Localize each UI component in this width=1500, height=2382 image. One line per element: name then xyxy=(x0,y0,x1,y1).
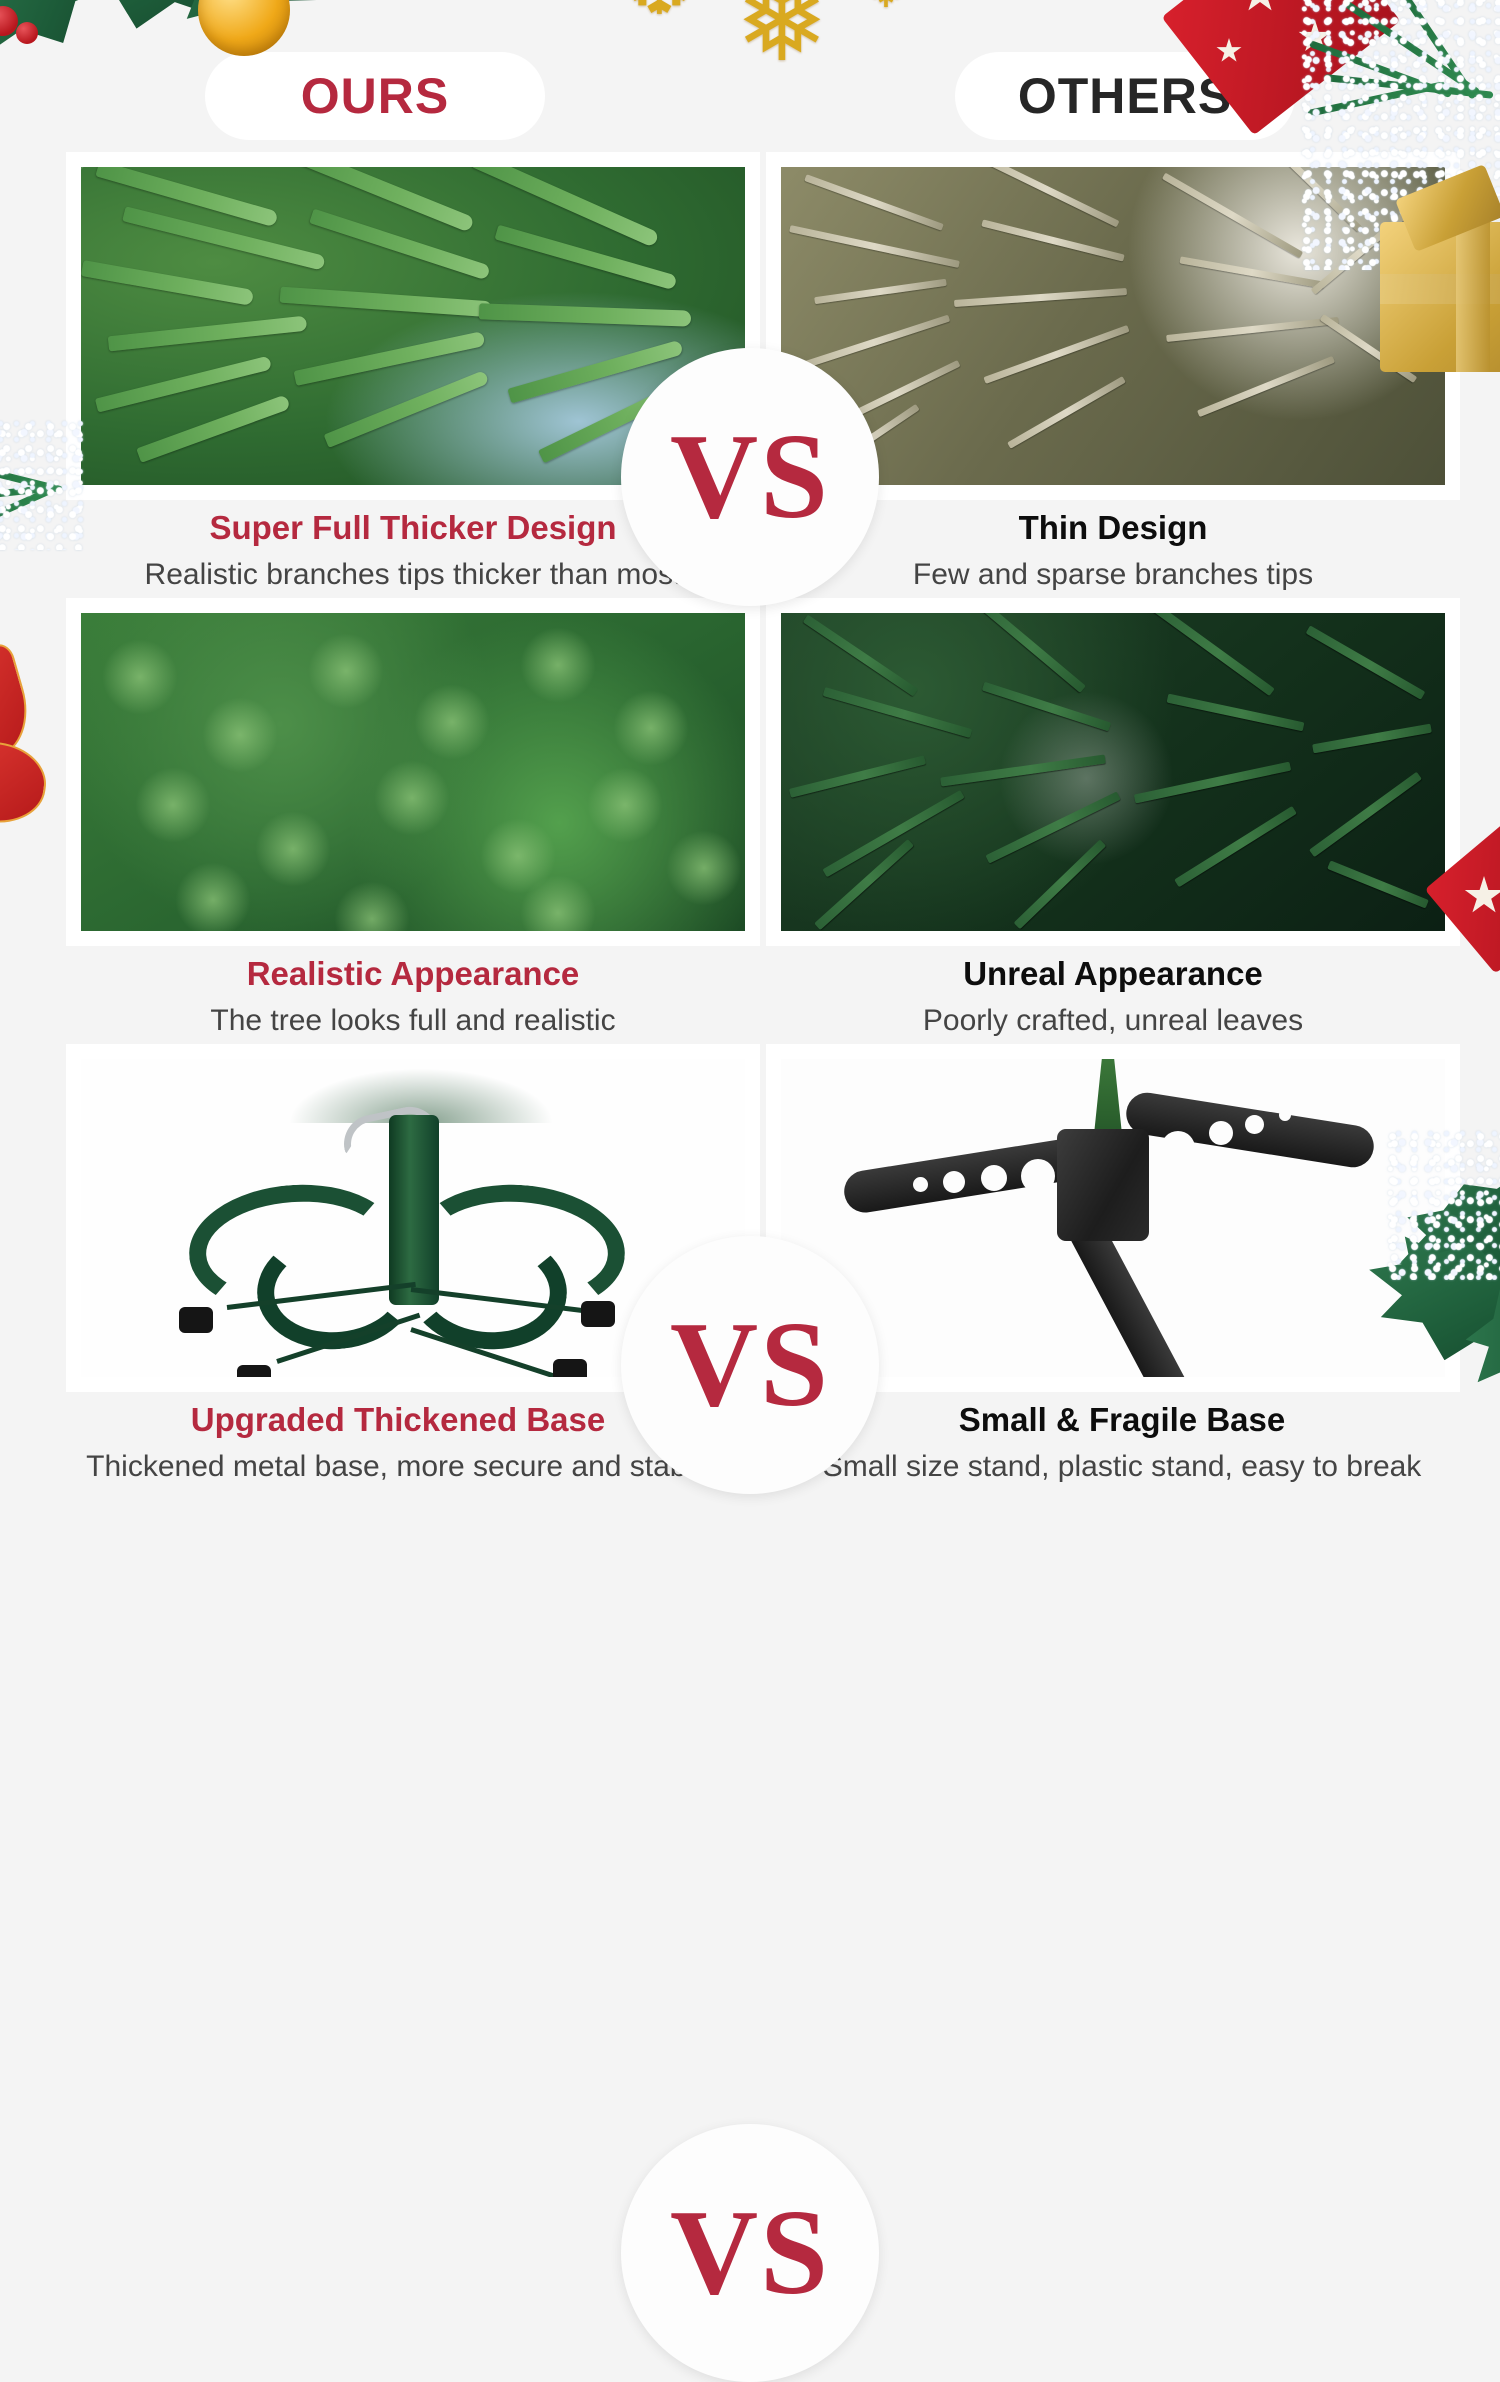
comparison-row-2: VS Realistic Appearance The tree looks f… xyxy=(0,598,1500,1044)
full-realistic-green-tree-photo xyxy=(81,613,745,931)
gold-snowflake-tertiary: ❄ xyxy=(860,0,912,18)
others-caption-2: Unreal Appearance Poorly crafted, unreal… xyxy=(763,954,1463,1039)
others-subtitle-1: Few and sparse branches tips xyxy=(763,557,1463,593)
dark-unreal-tree-foliage-photo xyxy=(781,613,1445,931)
gold-ornament-top-left xyxy=(198,0,290,56)
header-col-ours: OURS xyxy=(0,52,750,142)
ours-subtitle-2: The tree looks full and realistic xyxy=(63,1003,763,1039)
vs-badge-3: VS xyxy=(621,2124,879,2382)
comparison-row-1: VS Super Full Thicker Design Realistic b… xyxy=(0,152,1500,598)
gold-snowflake-secondary: ❆ xyxy=(625,0,694,28)
ours-title-2: Realistic Appearance xyxy=(63,954,763,994)
ours-header-pill: OURS xyxy=(205,52,545,140)
black-plastic-tripod-stand-photo xyxy=(781,1059,1445,1377)
others-subtitle-3: Small size stand, plastic stand, easy to… xyxy=(742,1449,1500,1485)
vs-label: VS xyxy=(670,416,830,538)
vs-badge-2: VS xyxy=(621,1236,879,1494)
others-label: OTHERS xyxy=(1018,67,1232,125)
vs-label: VS xyxy=(670,2192,830,2314)
comparison-rows: VS Super Full Thicker Design Realistic b… xyxy=(0,152,1500,1490)
header-row: OURS OTHERS xyxy=(0,52,1500,142)
header-col-others: OTHERS xyxy=(750,52,1500,142)
others-header-pill: OTHERS xyxy=(955,52,1295,140)
vs-label: VS xyxy=(670,1304,830,1426)
ours-label: OURS xyxy=(301,67,449,125)
stand-hub xyxy=(1057,1129,1149,1241)
others-panel-2 xyxy=(766,598,1460,946)
others-subtitle-2: Poorly crafted, unreal leaves xyxy=(763,1003,1463,1039)
vs-badge-1: VS xyxy=(621,348,879,606)
red-berry-top-left xyxy=(0,6,18,36)
thin-sparse-silver-needles-photo xyxy=(781,167,1445,485)
others-title-2: Unreal Appearance xyxy=(763,954,1463,994)
ours-caption-2: Realistic Appearance The tree looks full… xyxy=(63,954,763,1039)
comparison-infographic: OURS OTHERS xyxy=(0,0,1500,1500)
ours-panel-2 xyxy=(66,598,760,946)
